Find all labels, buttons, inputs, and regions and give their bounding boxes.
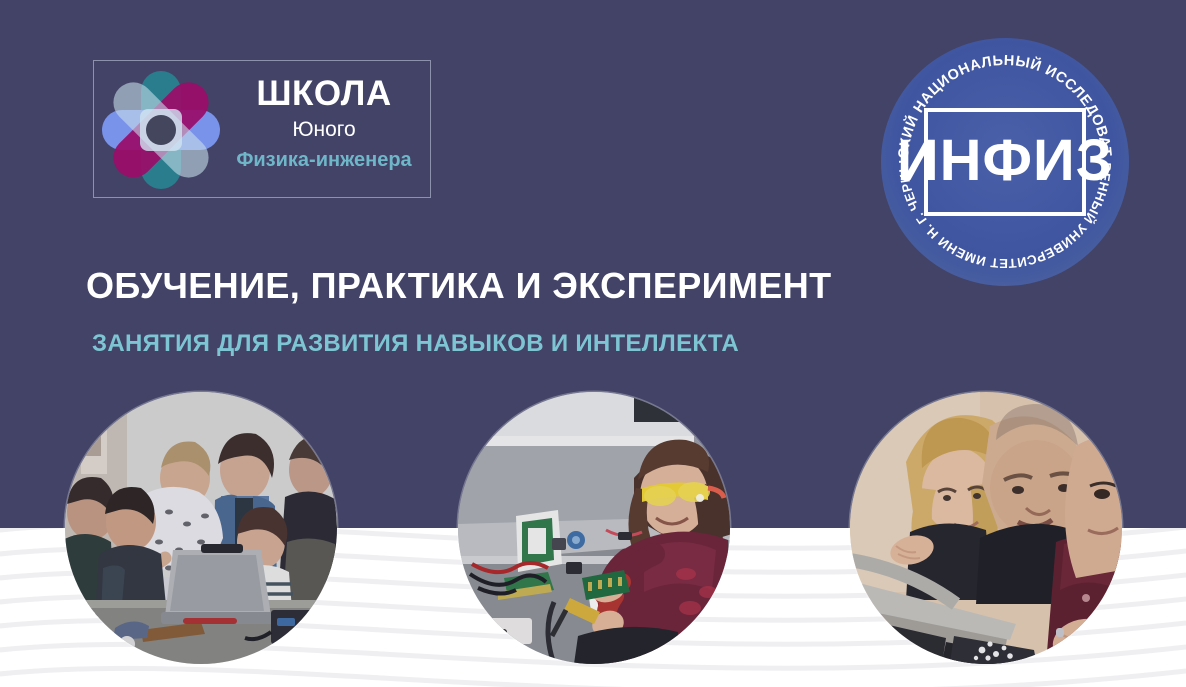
promo-banner: ШКОЛА Юного Физика-инженера САРАТОВСКИЙ … (0, 0, 1186, 687)
logo-line-yunogo: Юного (224, 115, 424, 145)
photo-soldering-student[interactable] (458, 392, 730, 664)
atom-flower-logo-icon (102, 71, 220, 189)
school-logo-text: ШКОЛА Юного Физика-инженера (224, 73, 424, 175)
school-logo-lockup[interactable]: ШКОЛА Юного Физика-инженера (93, 60, 431, 198)
seal-center-text: ИНФИЗ (897, 128, 1113, 193)
banner-subheadline: ЗАНЯТИЯ ДЛЯ РАЗВИТИЯ НАВЫКОВ И ИНТЕЛЛЕКТ… (92, 330, 739, 358)
logo-line-fizika-inzhenera: Физика-инженера (224, 145, 424, 175)
logo-line-shkola: ШКОЛА (224, 73, 424, 115)
photo-classroom-laptop[interactable] (65, 392, 337, 664)
university-seal[interactable]: САРАТОВСКИЙ НАЦИОНАЛЬНЫЙ ИССЛЕДОВАТЕЛЬСК… (879, 36, 1131, 288)
banner-headline: ОБУЧЕНИЕ, ПРАКТИКА И ЭКСПЕРИМЕНТ (86, 265, 832, 307)
photo-lab-equipment[interactable] (850, 392, 1122, 664)
